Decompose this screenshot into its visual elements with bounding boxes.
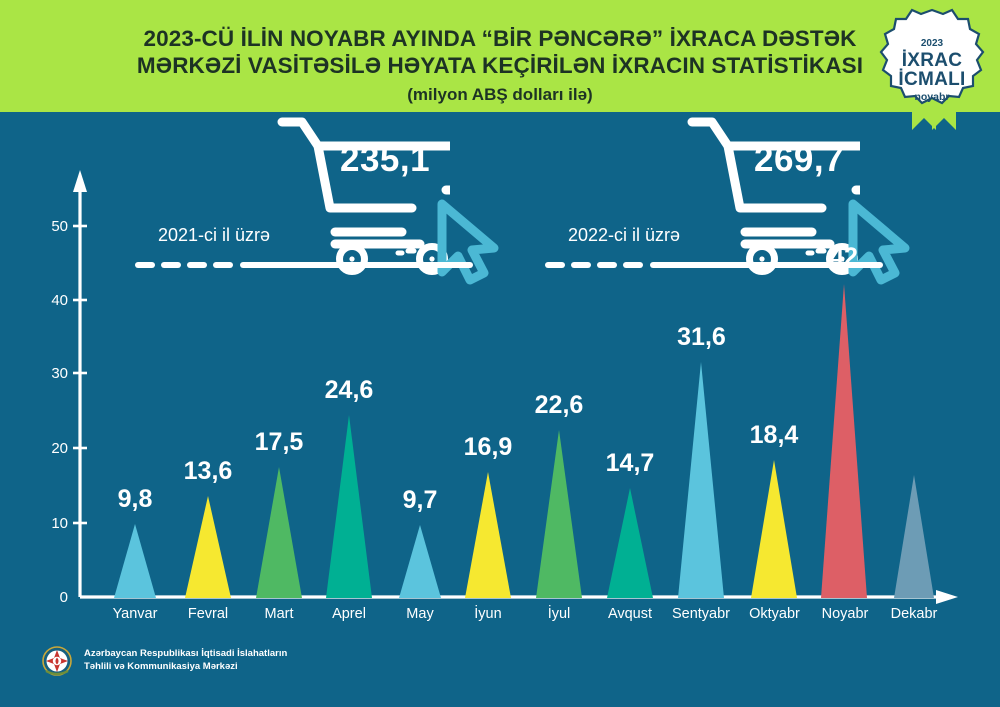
bar-cone-avqust[interactable]: [592, 488, 668, 598]
xtick-label-iyun: İyun: [448, 606, 528, 622]
bar-value-iyul: 22,6: [514, 391, 604, 420]
page-subtitle: (milyon ABŞ dolları ilə): [0, 85, 1000, 105]
footer-line1: Azərbaycan Respublikası İqtisadi İslahat…: [84, 648, 287, 661]
ytick-label-10: 10: [34, 515, 68, 532]
bar-cone-oktyabr[interactable]: [736, 460, 812, 598]
ytick-label-50: 50: [34, 218, 68, 235]
xtick-label-aprel: Aprel: [309, 606, 389, 622]
bar-value-aprel: 24,6: [304, 376, 394, 405]
ytick-label-0: 0: [34, 589, 68, 606]
bar-cone-yanvar[interactable]: [100, 524, 170, 598]
xtick-label-dekabr: Dekabr: [874, 606, 954, 622]
badge-month: noyabr: [872, 91, 992, 103]
bar-value-noyabr: 42: [799, 243, 889, 272]
badge-year: 2023: [872, 38, 992, 49]
page-title-line1: 2023-CÜ İLİN NOYABR AYINDA “BİR PƏNCƏRƏ”…: [0, 26, 1000, 53]
ytick-label-20: 20: [34, 440, 68, 457]
bar-cone-may[interactable]: [385, 525, 455, 598]
ytick-label-40: 40: [34, 292, 68, 309]
ytick-label-30: 30: [34, 365, 68, 382]
bar-value-avqust: 14,7: [585, 449, 675, 478]
xtick-label-noyabr: Noyabr: [805, 606, 885, 622]
xtick-label-fevral: Fevral: [168, 606, 248, 622]
bar-value-sentyabr: 31,6: [654, 323, 749, 352]
footer-text-block: Azərbaycan Respublikası İqtisadi İslahat…: [84, 648, 287, 673]
bar-value-yanvar: 9,8: [90, 485, 180, 514]
bar-cone-iyun[interactable]: [450, 472, 526, 598]
xtick-label-yanvar: Yanvar: [95, 606, 175, 622]
chart-stage: 235,1 2021-ci il üzrə: [0, 112, 1000, 707]
bar-value-fevral: 13,6: [163, 457, 253, 486]
header-banner: 2023-CÜ İLİN NOYABR AYINDA “BİR PƏNCƏRƏ”…: [0, 0, 1000, 112]
infographic-root: 2023-CÜ İLİN NOYABR AYINDA “BİR PƏNCƏRƏ”…: [0, 0, 1000, 707]
footer-credit: Azərbaycan Respublikası İqtisadi İslahat…: [40, 645, 460, 687]
azerbaijan-emblem-icon: [40, 645, 74, 679]
xtick-label-iyul: İyul: [519, 606, 599, 622]
xtick-label-mart: Mart: [239, 606, 319, 622]
bar-cone-fevral[interactable]: [170, 496, 246, 598]
bar-cone-mart[interactable]: [241, 467, 317, 598]
bar-cone-sentyabr[interactable]: [663, 362, 739, 598]
badge-line2: İCMALI: [872, 69, 992, 91]
page-title-line2: MƏRKƏZİ VASİTƏSİLƏ HƏYATA KEÇİRİLƏN İXRA…: [0, 53, 1000, 80]
bar-cone-noyabr[interactable]: [806, 284, 882, 598]
header-text-block: 2023-CÜ İLİN NOYABR AYINDA “BİR PƏNCƏRƏ”…: [0, 26, 1000, 105]
footer-line2: Təhlili və Kommunikasiya Mərkəzi: [84, 661, 287, 674]
bar-value-iyun: 16,9: [443, 433, 533, 462]
bar-cone-dekabr[interactable]: [876, 475, 952, 598]
